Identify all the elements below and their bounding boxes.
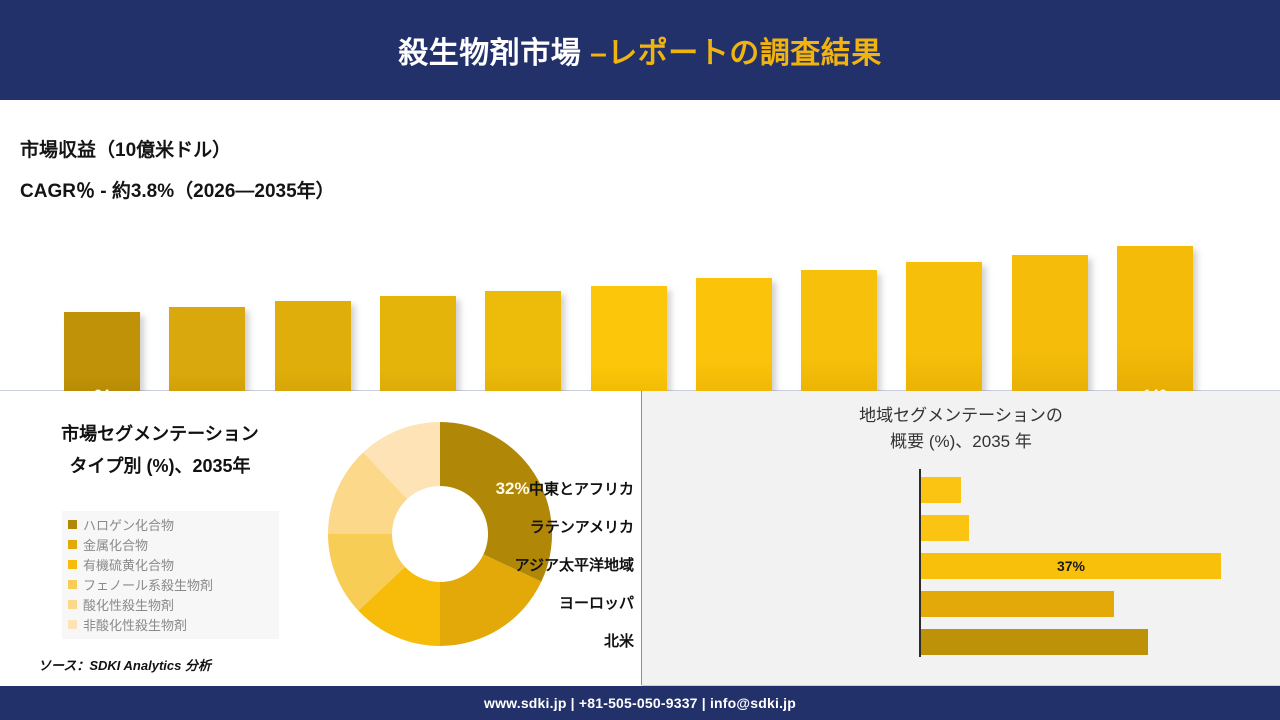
legend-item[interactable]: フェノール系殺生物剤 <box>68 574 273 594</box>
slide-root: 殺生物剤市場 –レポートの調査結果 市場収益（10億米ドル） CAGR％ - 約… <box>0 0 1280 720</box>
segmentation-legend: ハロゲン化合物金属化合物有機硫黄化合物フェノール系殺生物剤酸化性殺生物剤非酸化性… <box>62 511 279 639</box>
region-bar[interactable]: 37% <box>921 553 1221 579</box>
region-category-label: 北米 <box>374 629 634 655</box>
page-header: 殺生物剤市場 –レポートの調査結果 <box>0 0 1280 100</box>
legend-swatch-icon <box>68 620 77 629</box>
region-bar-value: 37% <box>1057 558 1085 574</box>
revenue-chart-panel: 市場収益（10億米ドル） CAGR％ - 約3.8%（2026―2035年） 9… <box>0 100 1280 391</box>
legend-label: 非酸化性殺生物剤 <box>83 615 187 634</box>
region-chart-title: 地域セグメンテーションの概要 (%)、2035 年 <box>642 403 1280 454</box>
legend-swatch-icon <box>68 520 77 529</box>
legend-item[interactable]: 酸化性殺生物剤 <box>68 594 273 614</box>
source-note: ソース：SDKI Analytics 分析 <box>38 655 211 674</box>
legend-label: フェノール系殺生物剤 <box>83 575 213 594</box>
region-bar[interactable] <box>921 515 969 541</box>
region-bar[interactable] <box>921 477 961 503</box>
page-title-accent: –レポートの調査結果 <box>590 37 882 70</box>
region-category-label: ヨーロッパ <box>374 591 634 617</box>
legend-item[interactable]: 金属化合物 <box>68 534 273 554</box>
revenue-bars-area: 942025年2026年2027年2028年2029年2030年2031年203… <box>0 100 1280 390</box>
footer-contact: www.sdki.jp | +81-505-050-9337 | info@sd… <box>484 695 796 711</box>
segmentation-title-line: タイプ別 (%)、2035年 <box>0 451 320 483</box>
page-title: 殺生物剤市場 –レポートの調査結果 <box>398 28 882 72</box>
region-bar-group: ヨーロッパ <box>642 591 1280 617</box>
legend-swatch-icon <box>68 580 77 589</box>
region-bar[interactable] <box>921 629 1148 655</box>
legend-label: ハロゲン化合物 <box>83 515 174 534</box>
region-category-label: 中東とアフリカ <box>374 477 634 503</box>
segmentation-title: 市場セグメンテーションタイプ別 (%)、2035年 <box>0 419 320 482</box>
region-bar-group: 中東とアフリカ <box>642 477 1280 503</box>
legend-label: 金属化合物 <box>83 535 148 554</box>
segmentation-title-line: 市場セグメンテーション <box>0 419 320 451</box>
region-category-label: ラテンアメリカ <box>374 515 634 541</box>
page-footer: www.sdki.jp | +81-505-050-9337 | info@sd… <box>0 686 1280 720</box>
legend-swatch-icon <box>68 600 77 609</box>
region-panel: 地域セグメンテーションの概要 (%)、2035 年 中東とアフリカラテンアメリカ… <box>642 391 1280 686</box>
region-title-line: 地域セグメンテーションの <box>642 403 1280 429</box>
region-bar-group: ラテンアメリカ <box>642 515 1280 541</box>
region-title-line: 概要 (%)、2035 年 <box>642 429 1280 455</box>
page-title-main: 殺生物剤市場 <box>398 37 590 70</box>
region-bar[interactable] <box>921 591 1114 617</box>
legend-item[interactable]: ハロゲン化合物 <box>68 514 273 534</box>
legend-label: 酸化性殺生物剤 <box>83 595 174 614</box>
legend-swatch-icon <box>68 540 77 549</box>
region-category-label: アジア太平洋地域 <box>374 553 634 579</box>
region-bar-group: 北米 <box>642 629 1280 655</box>
legend-item[interactable]: 有機硫黄化合物 <box>68 554 273 574</box>
legend-item[interactable]: 非酸化性殺生物剤 <box>68 614 273 634</box>
region-chart: 中東とアフリカラテンアメリカアジア太平洋地域37%ヨーロッパ北米 <box>642 469 1280 669</box>
region-bar-group: アジア太平洋地域37% <box>642 553 1280 579</box>
legend-label: 有機硫黄化合物 <box>83 555 174 574</box>
legend-swatch-icon <box>68 560 77 569</box>
